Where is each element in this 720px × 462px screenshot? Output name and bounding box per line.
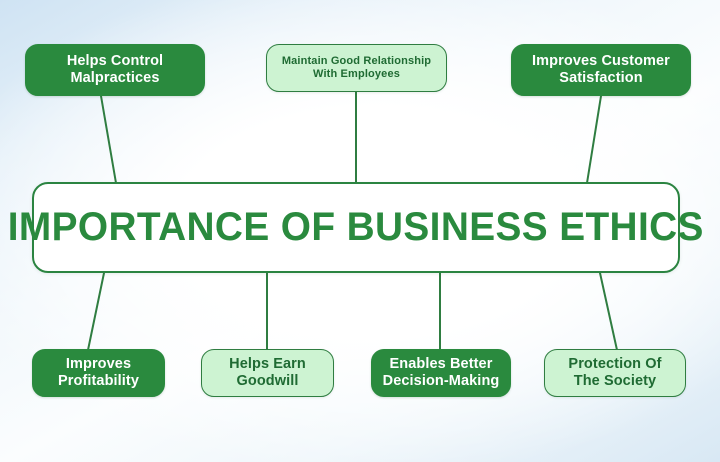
node-improves-customer-satisfaction[interactable]: Improves Customer Satisfaction [511,44,691,96]
node-helps-earn-goodwill[interactable]: Helps Earn Goodwill [201,349,334,397]
connector-bottom-1 [88,273,104,350]
center-node[interactable]: IMPORTANCE OF BUSINESS ETHICS [32,182,680,273]
node-protection-of-the-society[interactable]: Protection Of The Society [544,349,686,397]
node-improves-profitability[interactable]: Improves Profitability [32,349,165,397]
connector-top-1 [101,96,116,183]
page-title: IMPORTANCE OF BUSINESS ETHICS [8,205,704,250]
diagram-canvas: Helps Control Malpractices Maintain Good… [0,0,720,462]
node-enables-better-decision-making[interactable]: Enables Better Decision-Making [371,349,511,397]
connector-top-3 [587,96,601,183]
node-helps-control-malpractices[interactable]: Helps Control Malpractices [25,44,205,96]
node-maintain-good-relationship[interactable]: Maintain Good Relationship With Employee… [266,44,447,92]
connector-bottom-4 [600,273,617,350]
